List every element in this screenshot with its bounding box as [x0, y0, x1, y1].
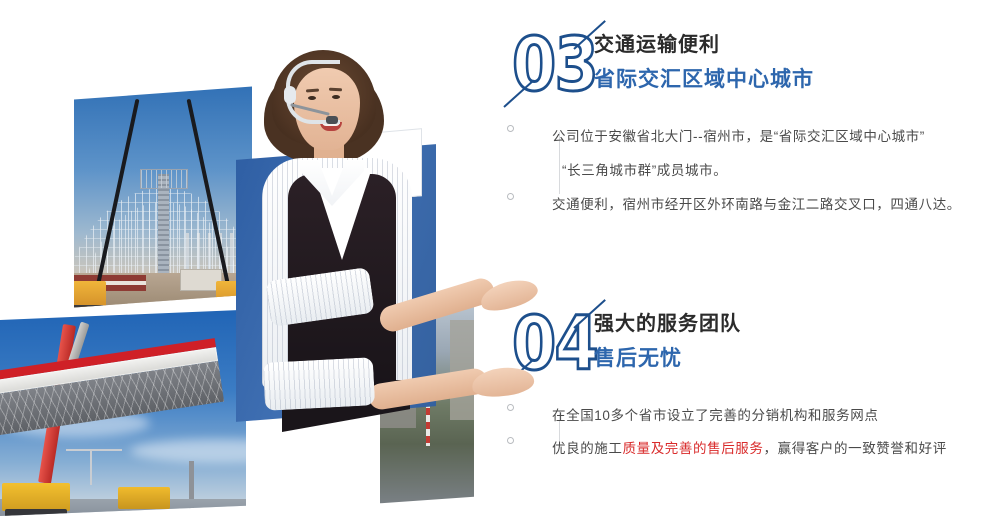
- image-collage: [0, 0, 520, 521]
- list-item: 交通便利，宿州市经开区外环南路与金江二路交叉口，四通八达。: [552, 188, 1003, 222]
- bullet-text-highlight: 质量及完善的售后服务: [623, 441, 764, 456]
- bullet-dot-icon: [507, 404, 514, 411]
- bullet-text-cont: “长三角城市群”成员城市。: [552, 154, 925, 188]
- list-item: 优良的施工质量及完善的售后服务，赢得客户的一致赞誉和好评: [552, 432, 1003, 465]
- list-item: 公司位于安徽省北大门--宿州市，是“省际交汇区域中心城市” “长三角城市群”成员…: [552, 120, 1003, 188]
- canopy-lifting-photo: [0, 310, 246, 517]
- section-03-heading: 03 交通运输便利 省际交汇区域中心城市: [500, 26, 1003, 112]
- customer-service-agent-photo: [218, 24, 518, 514]
- bullet-dot-icon: [507, 437, 514, 444]
- section-04-title-primary: 强大的服务团队: [594, 309, 741, 339]
- crane-truck-left: [74, 281, 106, 307]
- bullet-text-part: 优良的施工: [552, 441, 623, 456]
- section-03-title-primary: 交通运输便利: [594, 30, 814, 60]
- feature-block-03: 03 交通运输便利 省际交汇区域中心城市 公司位于安徽省北大门--宿州市，是“省…: [500, 26, 1003, 222]
- yellow-crane-truck: [2, 483, 70, 511]
- section-04-bullets: 在全国10多个省市设立了完善的分销机构和服务网点 优良的施工质量及完善的售后服务…: [500, 399, 1003, 465]
- bullet-text: 交通便利，宿州市经开区外环南路与金江二路交叉口，四通八达。: [552, 188, 961, 222]
- section-03-title-secondary: 省际交汇区域中心城市: [594, 64, 814, 96]
- bullet-text-rich: 优良的施工质量及完善的售后服务，赢得客户的一致赞誉和好评: [552, 432, 947, 465]
- bullet-text: 公司位于安徽省北大门--宿州市，是“省际交汇区域中心城市”: [552, 120, 925, 154]
- section-04-heading: 04 强大的服务团队 售后无忧: [500, 305, 1003, 391]
- feature-block-04: 04 强大的服务团队 售后无忧 在全国10多个省市设立了完善的分销机构和服务网点…: [500, 305, 1003, 465]
- agent-figure: [228, 24, 458, 494]
- bullet-dot-icon: [507, 193, 514, 200]
- bullet-text-part: ，赢得客户的一致赞誉和好评: [764, 441, 947, 456]
- bullet-dot-icon: [507, 125, 514, 132]
- content-column: 03 交通运输便利 省际交汇区域中心城市 公司位于安徽省北大门--宿州市，是“省…: [500, 0, 1003, 521]
- section-03-bullets: 公司位于安徽省北大门--宿州市，是“省际交汇区域中心城市” “长三角城市群”成员…: [500, 120, 1003, 222]
- promo-banner: 03 交通运输便利 省际交汇区域中心城市 公司位于安徽省北大门--宿州市，是“省…: [0, 0, 1003, 521]
- bullet-text: 在全国10多个省市设立了完善的分销机构和服务网点: [552, 399, 878, 432]
- section-04-title-secondary: 售后无忧: [594, 343, 741, 375]
- list-item: 在全国10多个省市设立了完善的分销机构和服务网点: [552, 399, 1003, 432]
